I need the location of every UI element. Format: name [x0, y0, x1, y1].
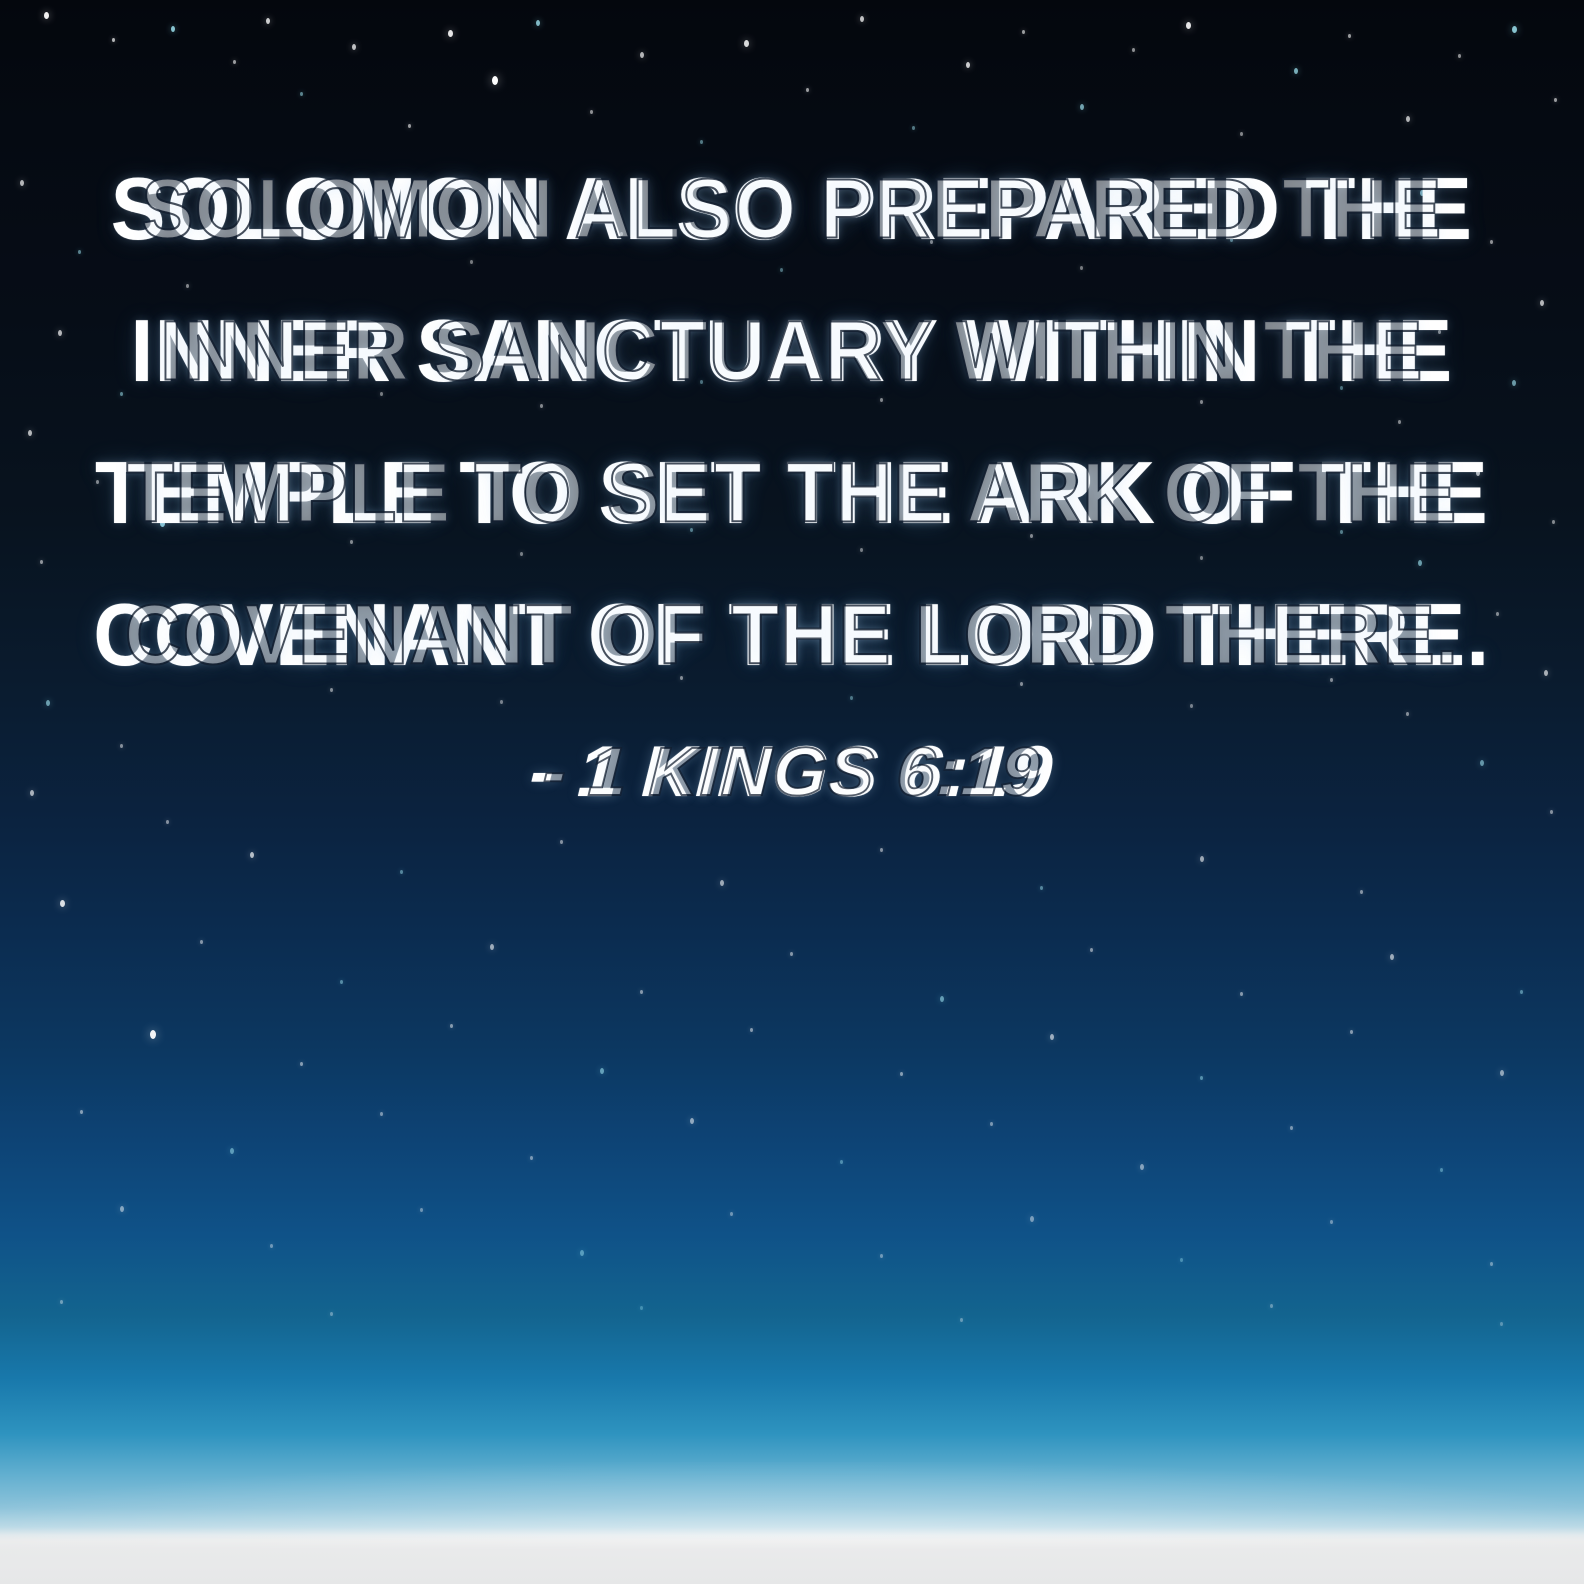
- verse-attribution: - 1 KINGS 6:19: [0, 726, 1584, 818]
- verse-line-2: INNER SANCTUARY WITHIN THE: [55, 280, 1528, 422]
- verse-line-3: TEMPLE TO SET THE ARK OF THE: [55, 422, 1528, 564]
- horizon-ground-band: [0, 1536, 1584, 1584]
- verse-line-4: COVENANT OF THE LORD THERE.: [55, 564, 1528, 706]
- verse-text-block: SOLOMON ALSO PREPARED THE INNER SANCTUAR…: [0, 0, 1584, 706]
- attribution-label: - 1 KINGS 6:19: [527, 726, 1056, 818]
- verse-line-1: SOLOMON ALSO PREPARED THE: [55, 138, 1528, 280]
- verse-image-canvas: SOLOMON ALSO PREPARED THE INNER SANCTUAR…: [0, 0, 1584, 1584]
